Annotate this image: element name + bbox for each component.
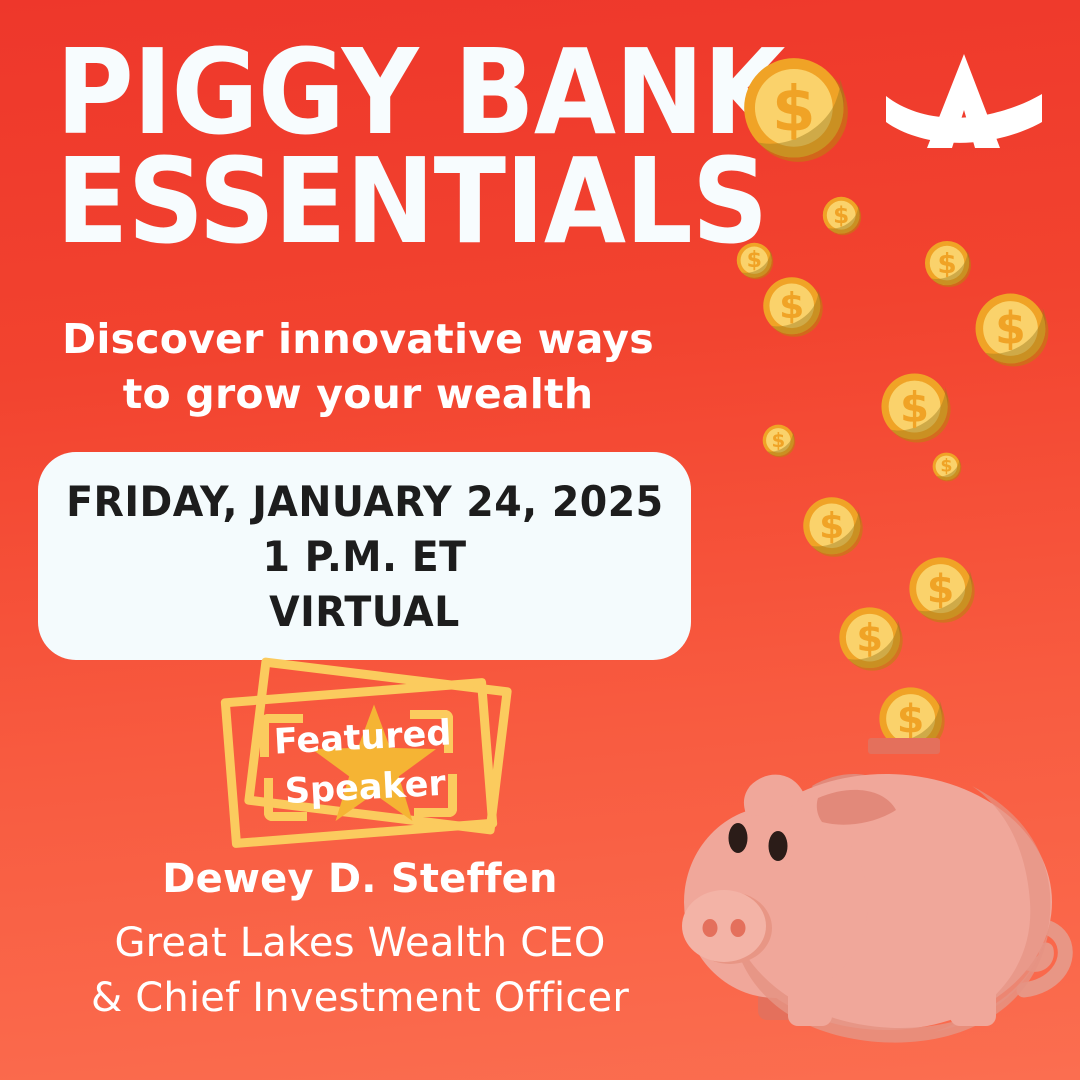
dollar-coin-icon: $: [762, 276, 824, 338]
dollar-coin-icon: $: [924, 240, 972, 288]
svg-text:$: $: [833, 202, 849, 229]
poster-canvas: PIGGY BANK ESSENTIALS Discover innovativ…: [0, 0, 1080, 1080]
dollar-coin-icon: $: [908, 556, 976, 624]
svg-text:$: $: [779, 286, 804, 327]
dollar-coin-icon: $: [762, 424, 796, 458]
headline-line-2: ESSENTIALS: [56, 147, 704, 256]
subtitle-line-2: to grow your wealth: [0, 367, 716, 422]
dollar-coin-icon: $: [802, 496, 864, 558]
headline-line-1: PIGGY BANK: [56, 38, 704, 147]
aarp-a-logo: [880, 52, 1048, 162]
event-details-card: FRIDAY, JANUARY 24, 2025 1 P.M. ET VIRTU…: [38, 452, 691, 660]
page-title: PIGGY BANK ESSENTIALS: [56, 38, 776, 255]
speaker-title: Great Lakes Wealth CEO & Chief Investmen…: [0, 916, 720, 1026]
svg-text:$: $: [772, 72, 816, 145]
svg-text:$: $: [771, 429, 785, 452]
svg-text:$: $: [819, 506, 844, 547]
event-location: VIRTUAL: [269, 587, 460, 636]
svg-text:$: $: [747, 248, 762, 273]
svg-text:$: $: [900, 383, 929, 432]
dollar-coin-icon: $: [822, 196, 862, 236]
speaker-title-line-1: Great Lakes Wealth CEO: [0, 916, 720, 971]
svg-text:$: $: [927, 566, 954, 612]
svg-text:$: $: [937, 247, 956, 280]
svg-text:$: $: [940, 457, 952, 477]
event-date: FRIDAY, JANUARY 24, 2025: [66, 477, 664, 526]
svg-text:$: $: [995, 304, 1026, 355]
subtitle: Discover innovative ways to grow your we…: [0, 312, 716, 421]
subtitle-line-1: Discover innovative ways: [0, 312, 716, 367]
featured-speaker-badge: Featured Speaker: [214, 666, 530, 862]
dollar-coin-icon: $: [932, 452, 962, 482]
dollar-coin-icon: $: [742, 56, 850, 164]
dollar-coin-icon: $: [736, 242, 774, 280]
speaker-name: Dewey D. Steffen: [0, 856, 720, 902]
dollar-coin-icon: $: [838, 606, 904, 672]
piggy-bank-icon: [672, 690, 1080, 1080]
dollar-coin-icon: $: [974, 292, 1050, 368]
svg-text:$: $: [856, 616, 883, 661]
event-time: 1 P.M. ET: [262, 532, 466, 581]
speaker-title-line-2: & Chief Investment Officer: [0, 971, 720, 1026]
dollar-coin-icon: $: [880, 372, 952, 444]
speaker-block: Dewey D. Steffen Great Lakes Wealth CEO …: [0, 856, 720, 1026]
featured-speaker-label: Featured Speaker: [212, 706, 517, 821]
